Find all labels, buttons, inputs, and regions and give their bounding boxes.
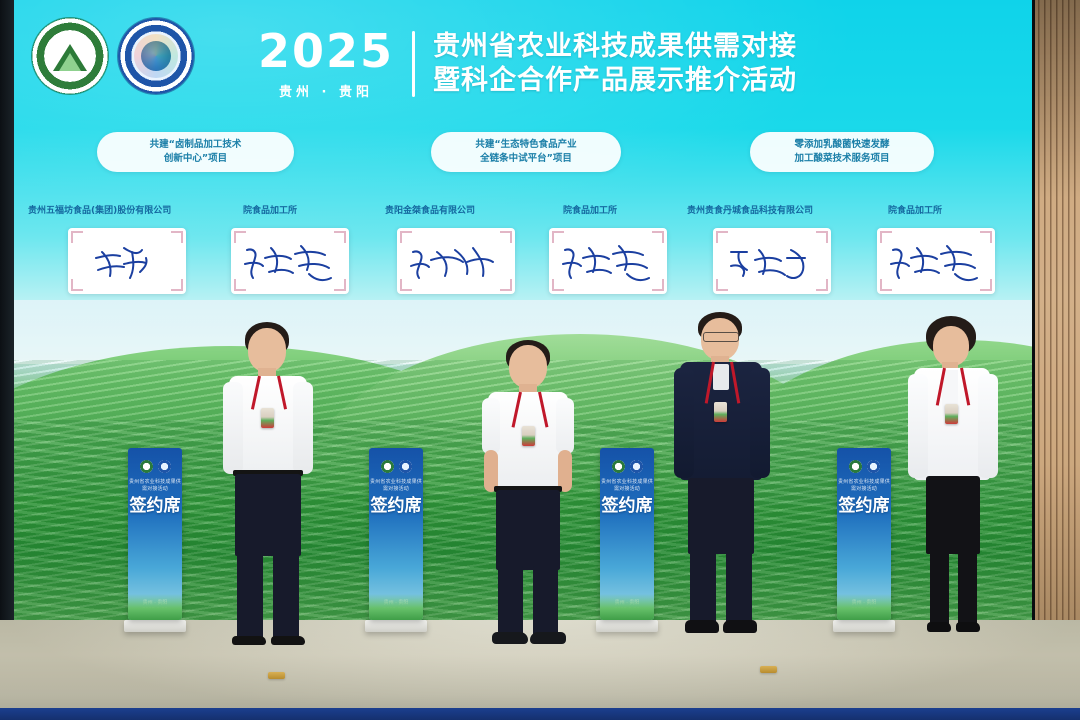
podium-4-grass: [837, 594, 891, 620]
project-pill-row: 共建“卤制品加工技术 创新中心”项目 共建“生态特色食品产业 全链条中试平台”项…: [0, 132, 1032, 174]
person-2-sleeve-left: [482, 398, 500, 454]
podium-2-base: [365, 620, 427, 632]
signature-card-3: [397, 228, 515, 294]
party-name-row: 贵州五福坊食品(集团)股份有限公司 院食品加工所 贵阳金桀食品有限公司 院食品加…: [0, 203, 1032, 221]
podium-1-sign: 签约席: [128, 496, 182, 517]
podium-3-caption: 贵州省农业科技成果供需对接活动: [600, 478, 654, 492]
party-name-1: 贵州五福坊食品(集团)股份有限公司: [28, 203, 171, 216]
person-1-arm-left: [223, 382, 243, 474]
signature-card-5: [713, 228, 831, 294]
person-4-arm-right: [978, 374, 998, 478]
person-4-shoe-left: [927, 622, 951, 632]
party-name-5: 贵州贵食丹城食品科技有限公司: [687, 203, 813, 216]
person-2: [478, 340, 588, 652]
project-pill-2: 共建“生态特色食品产业 全链条中试平台”项目: [431, 132, 621, 172]
person-2-head: [509, 345, 547, 388]
person-3-badge: [714, 402, 727, 422]
person-3: [670, 312, 780, 642]
project-2-line2: 全链条中试平台”项目: [480, 152, 572, 166]
person-4-skirt: [926, 476, 980, 554]
floor-blue-strip: [0, 708, 1080, 720]
person-1: [215, 322, 325, 652]
title-divider: [412, 31, 415, 97]
year-block: 2025 贵州 · 贵阳: [258, 28, 394, 100]
person-4-leg-left: [930, 550, 949, 628]
person-3-hips: [688, 478, 754, 554]
podium-2-sign: 签约席: [369, 496, 423, 517]
person-4: [902, 316, 1012, 646]
podium-1: 贵州省农业科技成果供需对接活动 签约席 贵州 · 贵阳 2025.9.23: [128, 448, 182, 632]
event-year: 2025: [258, 28, 394, 74]
person-3-glasses-icon: [703, 332, 739, 342]
title-lines: 贵州省农业科技成果供需对接 暨科企合作产品展示推介活动: [433, 32, 797, 96]
signature-ink-3: [397, 228, 515, 294]
podium-3-board: 贵州省农业科技成果供需对接活动 签约席 贵州 · 贵阳 2025.9.23: [600, 448, 654, 620]
person-3-leg-right: [726, 550, 752, 626]
signature-ink-5: [713, 228, 831, 294]
person-2-shoe-left: [492, 632, 528, 644]
event-title-line1: 贵州省农业科技成果供需对接: [433, 32, 797, 62]
event-photo-stage: 2025 贵州 · 贵阳 贵州省农业科技成果供需对接 暨科企合作产品展示推介活动…: [0, 0, 1080, 720]
expo-emblem-icon: [118, 18, 194, 94]
person-1-shoe-left: [232, 636, 266, 645]
signature-card-2: [231, 228, 349, 294]
person-2-leg-right: [533, 566, 558, 638]
floor-prop-1: [268, 672, 285, 679]
person-4-leg-right: [958, 550, 977, 628]
podium-1-base: [124, 620, 186, 632]
podium-4-board: 贵州省农业科技成果供需对接活动 签约席 贵州 · 贵阳 2025.9.23: [837, 448, 891, 620]
person-1-shoe-right: [271, 636, 305, 645]
person-3-shoe-right: [723, 620, 757, 633]
project-3-line2: 加工酸菜技术服务项目: [794, 152, 889, 166]
signature-card-row: [0, 228, 1032, 296]
person-4-shoe-right: [956, 622, 980, 632]
person-3-arm-left: [674, 368, 694, 478]
podium-2: 贵州省农业科技成果供需对接活动 签约席 贵州 · 贵阳 2025.9.23: [369, 448, 423, 632]
podium-1-grass: [128, 594, 182, 620]
event-title-block: 2025 贵州 · 贵阳 贵州省农业科技成果供需对接 暨科企合作产品展示推介活动: [258, 28, 797, 100]
project-pill-1: 共建“卤制品加工技术 创新中心”项目: [97, 132, 294, 172]
podium-3: 贵州省农业科技成果供需对接活动 签约席 贵州 · 贵阳 2025.9.23: [600, 448, 654, 632]
person-3-inner-shirt: [713, 364, 729, 390]
podium-1-board: 贵州省农业科技成果供需对接活动 签约席 贵州 · 贵阳 2025.9.23: [128, 448, 182, 620]
project-3-line1: 零添加乳酸菌快速发酵: [794, 138, 889, 152]
person-2-leg-left: [498, 566, 523, 638]
person-3-arm-right: [750, 368, 770, 478]
party-name-3: 贵阳金桀食品有限公司: [385, 203, 475, 216]
guizhou-academy-emblem-icon: [32, 18, 108, 94]
organizer-logos: [32, 16, 208, 96]
person-1-hips: [235, 474, 301, 556]
project-pill-3: 零添加乳酸菌快速发酵 加工酸菜技术服务项目: [750, 132, 934, 172]
podium-2-grass: [369, 594, 423, 620]
person-2-badge: [522, 426, 535, 446]
person-1-head: [248, 328, 286, 372]
podium-4: 贵州省农业科技成果供需对接活动 签约席 贵州 · 贵阳 2025.9.23: [837, 448, 891, 632]
person-4-badge: [945, 404, 958, 424]
party-name-6: 院食品加工所: [888, 203, 942, 216]
person-3-leg-left: [690, 550, 716, 626]
podium-1-caption: 贵州省农业科技成果供需对接活动: [128, 478, 182, 492]
project-1-line2: 创新中心”项目: [164, 152, 227, 166]
signature-card-6: [877, 228, 995, 294]
podium-3-base: [596, 620, 658, 632]
person-2-shoe-right: [530, 632, 566, 644]
event-city: 贵州 · 贵阳: [279, 81, 373, 100]
project-2-line1: 共建“生态特色食品产业: [475, 138, 576, 152]
person-2-hips: [496, 490, 560, 570]
project-1-line1: 共建“卤制品加工技术: [150, 138, 242, 152]
person-1-leg-right: [273, 552, 299, 640]
screen-left-edge: [0, 0, 14, 660]
person-4-head: [933, 326, 969, 366]
party-name-2: 院食品加工所: [243, 203, 297, 216]
person-1-arm-right: [293, 382, 313, 474]
signature-card-1: [68, 228, 186, 294]
party-name-4: 院食品加工所: [563, 203, 617, 216]
podium-4-base: [833, 620, 895, 632]
signature-ink-4: [549, 228, 667, 294]
signature-card-4: [549, 228, 667, 294]
podium-4-caption: 贵州省农业科技成果供需对接活动: [837, 478, 891, 492]
event-title-line2: 暨科企合作产品展示推介活动: [433, 66, 797, 96]
podium-4-sign: 签约席: [837, 496, 891, 517]
podium-3-sign: 签约席: [600, 496, 654, 517]
signature-ink-2: [231, 228, 349, 294]
person-1-badge: [261, 408, 274, 428]
person-2-sleeve-right: [556, 398, 574, 454]
signature-ink-6: [877, 228, 995, 294]
signature-ink-1: [68, 228, 186, 294]
person-1-leg-left: [237, 552, 263, 640]
podium-3-grass: [600, 594, 654, 620]
floor-prop-2: [760, 666, 777, 673]
person-4-arm-left: [908, 374, 928, 478]
podium-2-caption: 贵州省农业科技成果供需对接活动: [369, 478, 423, 492]
podium-2-board: 贵州省农业科技成果供需对接活动 签约席 贵州 · 贵阳 2025.9.23: [369, 448, 423, 620]
person-3-shoe-left: [685, 620, 719, 633]
